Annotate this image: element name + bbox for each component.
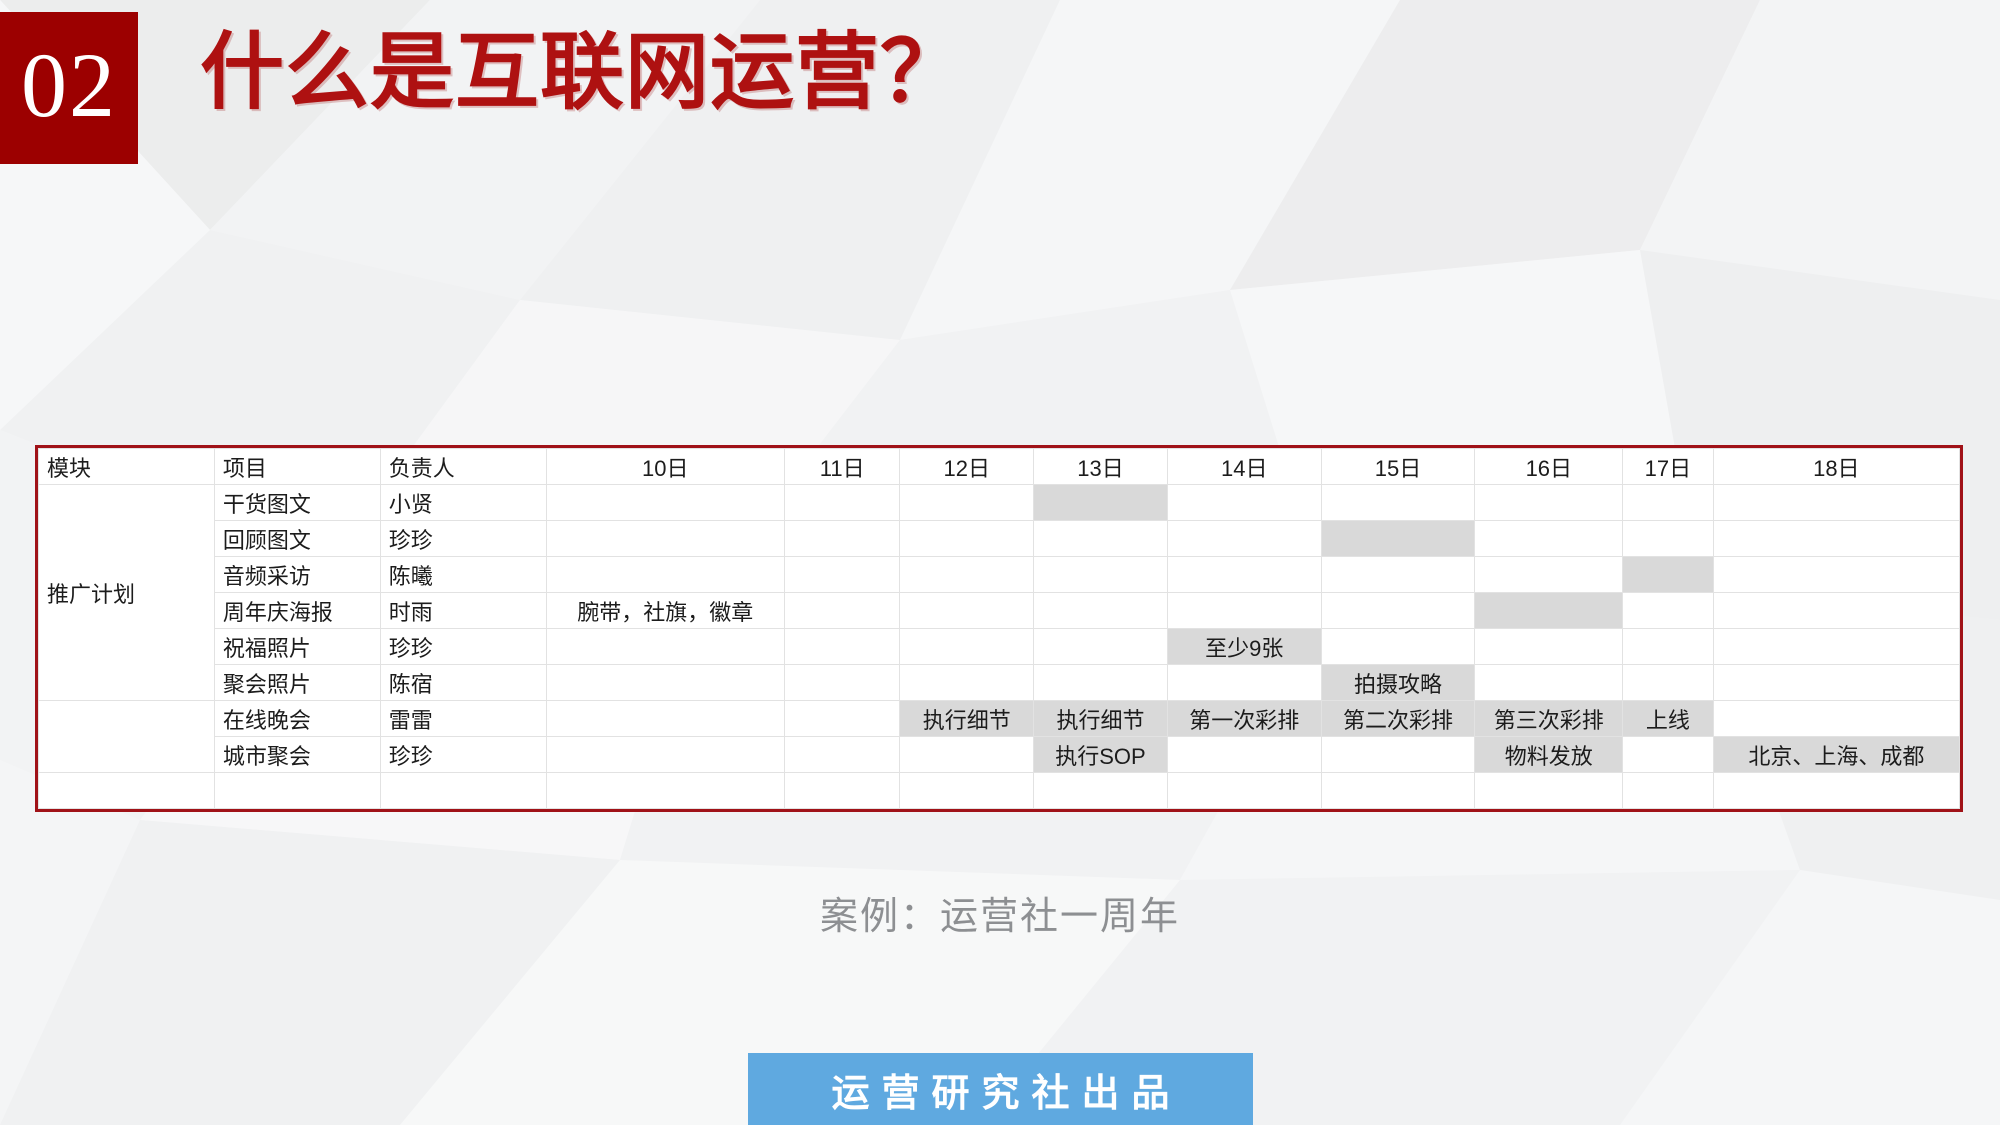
spacer-cell	[214, 773, 380, 809]
table-header-row: 模块项目负责人10日11日12日13日14日15日16日17日18日	[39, 449, 1960, 485]
owner-cell: 珍珍	[380, 737, 546, 773]
project-cell: 城市聚会	[214, 737, 380, 773]
spacer-cell	[1713, 773, 1959, 809]
schedule-cell-17日	[1623, 521, 1713, 557]
schedule-cell-16日	[1475, 485, 1623, 521]
schedule-cell-18日	[1713, 557, 1959, 593]
column-header-10: 16日	[1475, 449, 1623, 485]
table-spacer-row	[39, 773, 1960, 809]
schedule-cell-10日: 腕带，社旗，徽章	[546, 593, 784, 629]
schedule-cell-13日	[1034, 593, 1168, 629]
schedule-cell-12日	[900, 485, 1034, 521]
schedule-cell-12日	[900, 593, 1034, 629]
schedule-cell-16日: 第三次彩排	[1475, 701, 1623, 737]
spacer-cell	[1321, 773, 1475, 809]
schedule-cell-18日	[1713, 593, 1959, 629]
table-row: 推广计划干货图文小贤	[39, 485, 1960, 521]
column-header-11: 17日	[1623, 449, 1713, 485]
schedule-cell-12日	[900, 737, 1034, 773]
schedule-cell-17日: 上线	[1623, 701, 1713, 737]
spacer-cell	[1475, 773, 1623, 809]
schedule-cell-13日	[1034, 485, 1168, 521]
owner-cell: 珍珍	[380, 629, 546, 665]
schedule-cell-16日: 物料发放	[1475, 737, 1623, 773]
schedule-cell-11日	[784, 737, 900, 773]
column-header-3: 负责人	[380, 449, 546, 485]
schedule-cell-12日	[900, 521, 1034, 557]
spacer-cell	[39, 773, 215, 809]
table-row: 祝福照片珍珍至少9张	[39, 629, 1960, 665]
page-title: 什么是互联网运营？	[200, 30, 965, 114]
schedule-cell-16日	[1475, 557, 1623, 593]
schedule-cell-17日	[1623, 593, 1713, 629]
slide-header: 02 什么是互联网运营？	[0, 12, 965, 164]
schedule-cell-16日	[1475, 593, 1623, 629]
schedule-cell-18日	[1713, 485, 1959, 521]
owner-cell: 时雨	[380, 593, 546, 629]
project-cell: 周年庆海报	[214, 593, 380, 629]
schedule-cell-15日: 第二次彩排	[1321, 701, 1475, 737]
schedule-cell-15日	[1321, 557, 1475, 593]
owner-cell: 陈曦	[380, 557, 546, 593]
schedule-cell-18日	[1713, 521, 1959, 557]
owner-cell: 雷雷	[380, 701, 546, 737]
schedule-cell-14日	[1167, 485, 1321, 521]
schedule-cell-13日	[1034, 629, 1168, 665]
column-header-6: 12日	[900, 449, 1034, 485]
section-number-badge: 02	[0, 12, 138, 164]
schedule-table-container: 模块项目负责人10日11日12日13日14日15日16日17日18日推广计划干货…	[35, 445, 1963, 812]
schedule-cell-11日	[784, 629, 900, 665]
owner-cell: 小贤	[380, 485, 546, 521]
slide-canvas: 02 什么是互联网运营？ 模块项目负责人10日11日12日13日14日15日16…	[0, 0, 2000, 1125]
project-cell: 聚会照片	[214, 665, 380, 701]
column-header-5: 11日	[784, 449, 900, 485]
spacer-cell	[784, 773, 900, 809]
module-cell: 推广计划	[39, 485, 215, 701]
schedule-cell-15日	[1321, 737, 1475, 773]
footer-brand-banner[interactable]: 运营研究社出品	[748, 1053, 1253, 1125]
table-row: 聚会照片陈宿拍摄攻略	[39, 665, 1960, 701]
schedule-cell-13日	[1034, 557, 1168, 593]
schedule-cell-12日	[900, 629, 1034, 665]
schedule-cell-14日	[1167, 557, 1321, 593]
schedule-cell-11日	[784, 521, 900, 557]
schedule-cell-11日	[784, 665, 900, 701]
project-cell: 在线晚会	[214, 701, 380, 737]
project-cell: 祝福照片	[214, 629, 380, 665]
schedule-cell-18日: 北京、上海、成都	[1713, 737, 1959, 773]
schedule-cell-17日	[1623, 665, 1713, 701]
schedule-cell-17日	[1623, 737, 1713, 773]
schedule-cell-11日	[784, 557, 900, 593]
schedule-cell-13日: 执行细节	[1034, 701, 1168, 737]
case-caption: 案例：运营社一周年	[0, 885, 2000, 940]
spacer-cell	[1623, 773, 1713, 809]
column-header-4: 10日	[546, 449, 784, 485]
schedule-cell-11日	[784, 701, 900, 737]
schedule-table: 模块项目负责人10日11日12日13日14日15日16日17日18日推广计划干货…	[38, 448, 1960, 809]
schedule-cell-16日	[1475, 629, 1623, 665]
schedule-cell-10日	[546, 629, 784, 665]
spacer-cell	[380, 773, 546, 809]
schedule-cell-17日	[1623, 557, 1713, 593]
schedule-cell-11日	[784, 485, 900, 521]
column-header-9: 15日	[1321, 449, 1475, 485]
column-header-12: 18日	[1713, 449, 1959, 485]
schedule-cell-12日	[900, 665, 1034, 701]
schedule-cell-11日	[784, 593, 900, 629]
footer-brand-label: 运营研究社出品	[819, 1062, 1181, 1117]
schedule-cell-17日	[1623, 629, 1713, 665]
schedule-cell-10日	[546, 701, 784, 737]
spacer-cell	[1034, 773, 1168, 809]
schedule-cell-15日	[1321, 593, 1475, 629]
schedule-cell-14日	[1167, 593, 1321, 629]
schedule-cell-13日: 执行SOP	[1034, 737, 1168, 773]
schedule-cell-12日: 执行细节	[900, 701, 1034, 737]
schedule-cell-13日	[1034, 521, 1168, 557]
schedule-cell-10日	[546, 737, 784, 773]
schedule-cell-18日	[1713, 701, 1959, 737]
module-cell	[39, 701, 215, 773]
schedule-cell-18日	[1713, 665, 1959, 701]
schedule-cell-14日: 至少9张	[1167, 629, 1321, 665]
table-row: 音频采访陈曦	[39, 557, 1960, 593]
schedule-cell-17日	[1623, 485, 1713, 521]
project-cell: 干货图文	[214, 485, 380, 521]
column-header-7: 13日	[1034, 449, 1168, 485]
schedule-cell-14日	[1167, 665, 1321, 701]
owner-cell: 珍珍	[380, 521, 546, 557]
schedule-cell-14日	[1167, 521, 1321, 557]
schedule-cell-15日	[1321, 629, 1475, 665]
column-header-1: 模块	[39, 449, 215, 485]
schedule-cell-14日: 第一次彩排	[1167, 701, 1321, 737]
schedule-cell-14日	[1167, 737, 1321, 773]
table-row: 回顾图文珍珍	[39, 521, 1960, 557]
schedule-cell-12日	[900, 557, 1034, 593]
schedule-cell-10日	[546, 557, 784, 593]
project-cell: 音频采访	[214, 557, 380, 593]
schedule-cell-10日	[546, 485, 784, 521]
table-row: 周年庆海报时雨腕带，社旗，徽章	[39, 593, 1960, 629]
spacer-cell	[900, 773, 1034, 809]
project-cell: 回顾图文	[214, 521, 380, 557]
table-row: 城市聚会珍珍执行SOP物料发放北京、上海、成都	[39, 737, 1960, 773]
schedule-cell-13日	[1034, 665, 1168, 701]
schedule-cell-18日	[1713, 629, 1959, 665]
column-header-2: 项目	[214, 449, 380, 485]
column-header-8: 14日	[1167, 449, 1321, 485]
owner-cell: 陈宿	[380, 665, 546, 701]
schedule-cell-10日	[546, 665, 784, 701]
spacer-cell	[1167, 773, 1321, 809]
schedule-cell-15日	[1321, 521, 1475, 557]
spacer-cell	[546, 773, 784, 809]
table-row: 在线晚会雷雷执行细节执行细节第一次彩排第二次彩排第三次彩排上线	[39, 701, 1960, 737]
schedule-cell-15日	[1321, 485, 1475, 521]
schedule-cell-16日	[1475, 521, 1623, 557]
schedule-cell-16日	[1475, 665, 1623, 701]
schedule-cell-15日: 拍摄攻略	[1321, 665, 1475, 701]
schedule-cell-10日	[546, 521, 784, 557]
